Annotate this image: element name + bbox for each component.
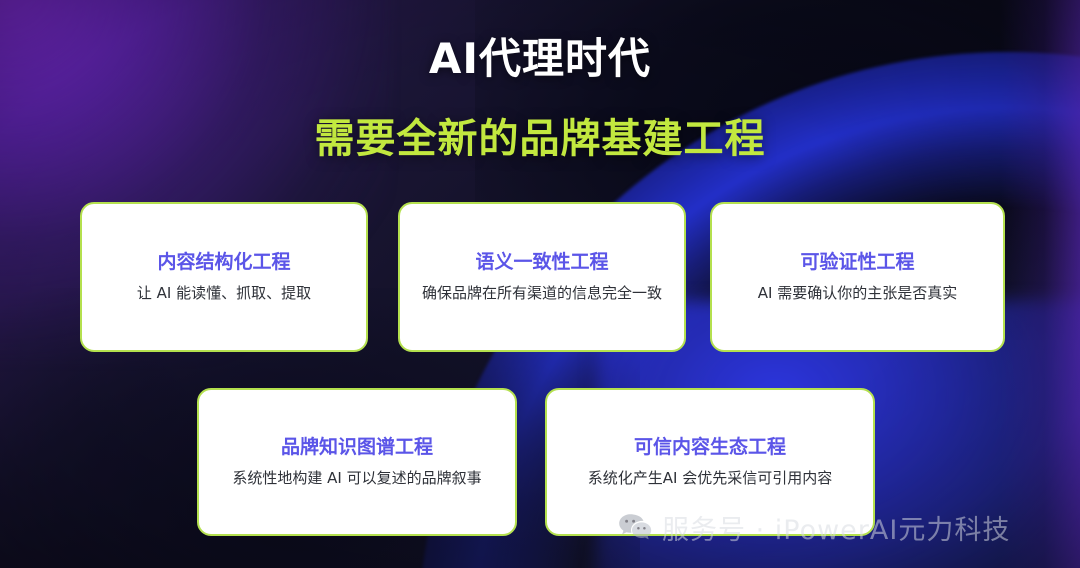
watermark: 服务号 · iPowerAI元力科技 <box>618 508 1010 547</box>
pillar-card-description: 确保品牌在所有渠道的信息完全一致 <box>422 283 662 304</box>
pillar-card-title: 内容结构化工程 <box>157 250 290 275</box>
pillar-card[interactable]: 可验证性工程 AI 需要确认你的主张是否真实 <box>710 202 1005 352</box>
pillar-card-title: 品牌知识图谱工程 <box>281 435 433 460</box>
pillar-card[interactable]: 品牌知识图谱工程 系统性地构建 AI 可以复述的品牌叙事 <box>197 388 517 536</box>
pillar-card-description: AI 需要确认你的主张是否真实 <box>758 283 957 304</box>
wechat-icon <box>618 513 652 543</box>
page-subtitle: 需要全新的品牌基建工程 <box>0 106 1080 164</box>
page-title: AI代理时代 <box>0 25 1080 86</box>
slide-root: AI代理时代 需要全新的品牌基建工程 内容结构化工程 让 AI 能读懂、抓取、提… <box>0 0 1080 568</box>
pillar-card-title: 语义一致性工程 <box>475 250 608 275</box>
pillar-card-description: 系统化产生AI 会优先采信可引用内容 <box>588 468 832 489</box>
watermark-text: 服务号 · iPowerAI元力科技 <box>662 508 1010 547</box>
pillar-card-description: 让 AI 能读懂、抓取、提取 <box>137 283 311 304</box>
pillar-card-title: 可验证性工程 <box>800 250 914 275</box>
pillar-card-title: 可信内容生态工程 <box>634 435 786 460</box>
pillar-card[interactable]: 内容结构化工程 让 AI 能读懂、抓取、提取 <box>80 202 368 352</box>
slide-content: AI代理时代 需要全新的品牌基建工程 内容结构化工程 让 AI 能读懂、抓取、提… <box>0 0 1080 568</box>
pillar-card-description: 系统性地构建 AI 可以复述的品牌叙事 <box>232 468 481 489</box>
pillar-card[interactable]: 语义一致性工程 确保品牌在所有渠道的信息完全一致 <box>398 202 686 352</box>
